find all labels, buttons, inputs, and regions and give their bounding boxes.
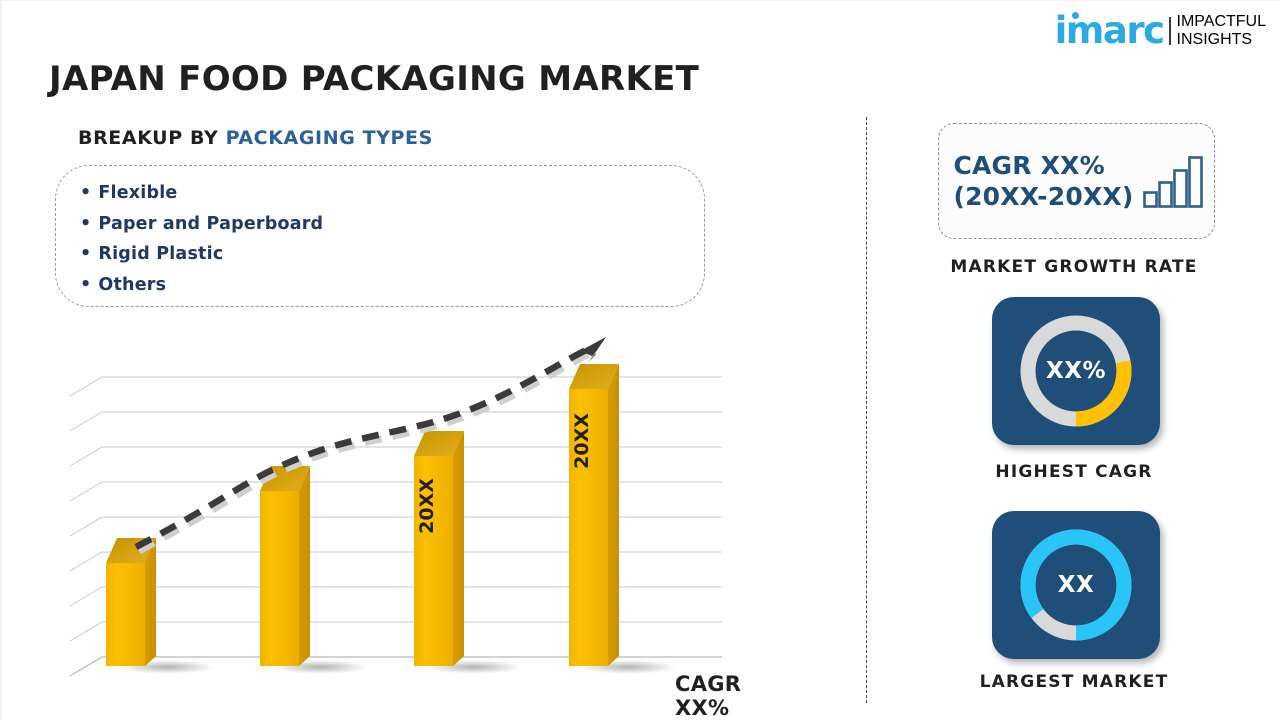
- list-item-label: Paper and Paperboard: [98, 214, 323, 234]
- infographic-page: imarc IMPACTFUL INSIGHTS JAPAN FOOD PACK…: [0, 0, 1280, 720]
- logo-dot-icon: [1072, 12, 1079, 19]
- logo-divider: [1169, 17, 1171, 45]
- subtitle-prefix: BREAKUP BY: [78, 127, 226, 149]
- logo-wordmark: imarc: [1055, 14, 1164, 48]
- cagr-line-1: CAGR XX%: [953, 150, 1133, 181]
- page-title: JAPAN FOOD PACKAGING MARKET: [49, 59, 699, 99]
- market-growth-rate-box: CAGR XX% (20XX-20XX): [938, 123, 1215, 239]
- trend-arrowhead: [580, 337, 606, 365]
- trend-line: [136, 337, 606, 551]
- logo-tagline-line2: INSIGHTS: [1177, 31, 1266, 49]
- bullet-icon: •: [80, 183, 91, 203]
- bullet-icon: •: [80, 214, 91, 234]
- panel-divider: [866, 117, 867, 703]
- cagr-line-2: (20XX-20XX): [953, 181, 1133, 212]
- cagr-value-text: CAGR XX% (20XX-20XX): [953, 150, 1133, 212]
- packaging-types-box: •Flexible •Paper and Paperboard •Rigid P…: [55, 165, 705, 307]
- list-item: •Others: [80, 270, 704, 301]
- bar-1: [106, 538, 156, 666]
- bullet-icon: •: [80, 275, 91, 295]
- section-subtitle: BREAKUP BY PACKAGING TYPES: [78, 127, 433, 149]
- highest-cagr-card: XX%: [992, 297, 1160, 445]
- list-item-label: Others: [98, 275, 166, 295]
- subtitle-accent: PACKAGING TYPES: [226, 127, 433, 149]
- largest-market-value: XX: [1058, 572, 1094, 598]
- highest-cagr-caption: HIGHEST CAGR: [866, 462, 1280, 482]
- bar-4: 20XX: [569, 364, 619, 666]
- largest-market-card: XX: [992, 511, 1160, 659]
- list-item: •Paper and Paperboard: [80, 209, 704, 240]
- growth-rate-bar-chart: 20XX 20XX CAGR XX% GROWTH RATE: [62, 331, 762, 711]
- list-item: •Rigid Plastic: [80, 239, 704, 270]
- logo-tagline: IMPACTFUL INSIGHTS: [1177, 13, 1266, 49]
- chart-canvas: 20XX 20XX: [62, 331, 762, 711]
- largest-market-caption: LARGEST MARKET: [866, 672, 1280, 692]
- bullet-icon: •: [80, 244, 91, 264]
- logo-tagline-line1: IMPACTFUL: [1177, 13, 1266, 31]
- bar-3: 20XX: [414, 431, 464, 666]
- list-item: •Flexible: [80, 178, 704, 209]
- bar-chart-icon: [1142, 153, 1204, 209]
- highest-cagr-value: XX%: [1046, 358, 1106, 384]
- bar-3-label: 20XX: [416, 478, 438, 534]
- imarc-logo: imarc IMPACTFUL INSIGHTS: [1055, 13, 1266, 49]
- bar-4-label: 20XX: [571, 413, 593, 469]
- chart-cagr-annotation: CAGR XX%: [675, 672, 762, 720]
- list-item-label: Flexible: [98, 183, 177, 203]
- list-item-label: Rigid Plastic: [98, 244, 223, 264]
- market-growth-rate-caption: MARKET GROWTH RATE: [866, 257, 1280, 277]
- bar-2: [260, 466, 310, 666]
